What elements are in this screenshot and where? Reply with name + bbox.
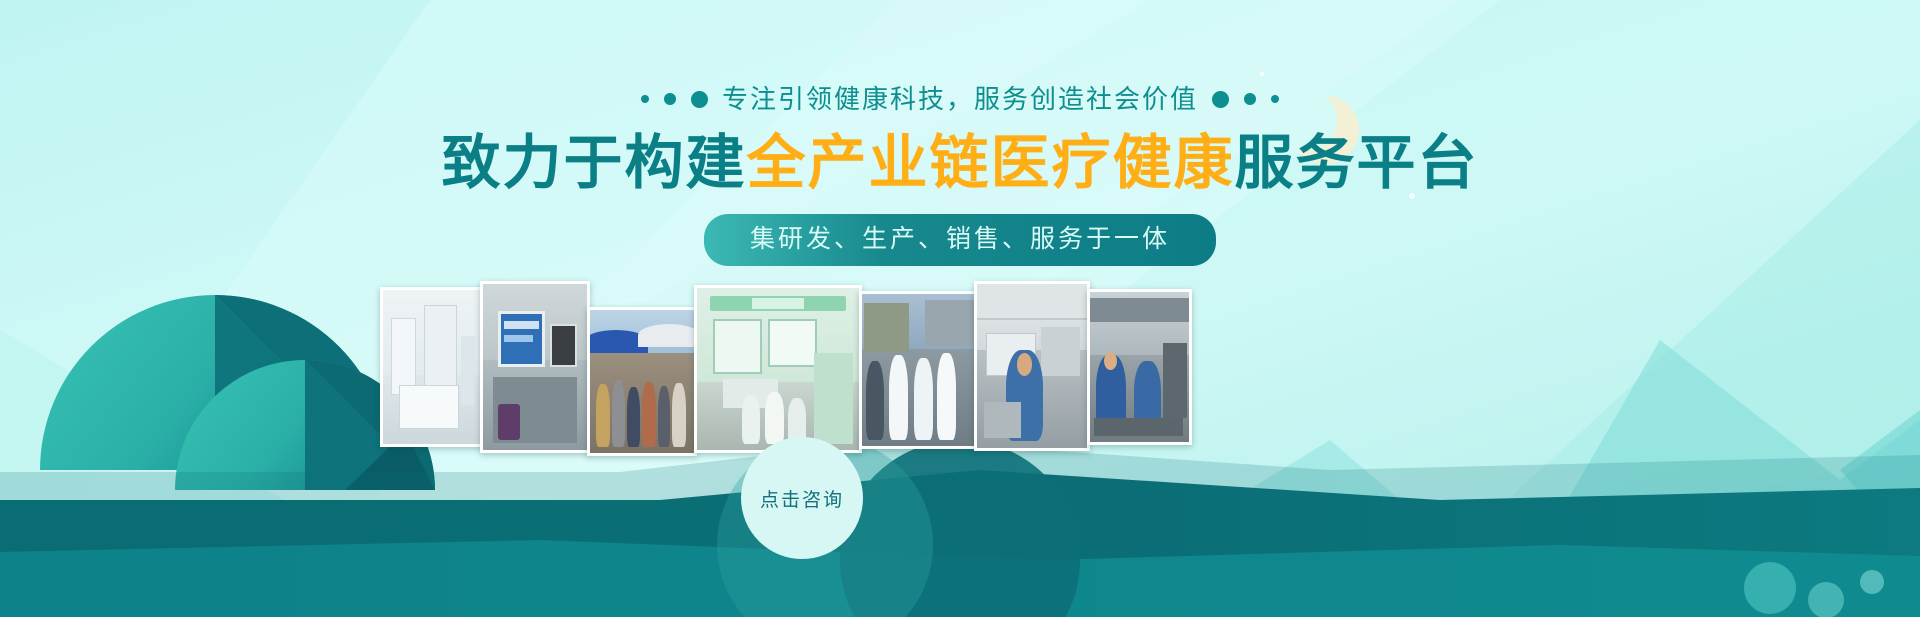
subtitle-row: 专注引领健康科技，服务创造社会价值 bbox=[0, 82, 1920, 116]
banner-text-block: 专注引领健康科技，服务创造社会价值 致力于构建全产业链医疗健康服务平台 集研发、… bbox=[0, 0, 1920, 266]
small-dot-icon bbox=[641, 95, 649, 103]
consult-button-label: 点击咨询 bbox=[760, 485, 844, 512]
photo-medical-staff-outdoor-checkup bbox=[859, 291, 977, 449]
consult-button[interactable]: 点击咨询 bbox=[741, 437, 863, 559]
headline-part-1: 致力于构建 bbox=[441, 130, 746, 196]
banner-subtitle: 专注引领健康科技，服务创造社会价值 bbox=[722, 82, 1198, 116]
decorative-dots-left bbox=[641, 91, 708, 108]
photo-technician-operating-equipment bbox=[1087, 289, 1192, 445]
tagline-pill: 集研发、生产、销售、服务于一体 bbox=[704, 214, 1216, 266]
photo-mobile-medical-vehicle-interior bbox=[974, 281, 1090, 451]
large-dot-icon bbox=[1212, 91, 1229, 108]
photo-health-kiosk-consultation-room bbox=[694, 285, 862, 453]
photo-strip bbox=[380, 281, 1192, 456]
small-dot-icon bbox=[1271, 95, 1279, 103]
tagline-row: 集研发、生产、销售、服务于一体 bbox=[0, 214, 1920, 266]
decorative-dots-right bbox=[1212, 91, 1279, 108]
headline-part-3: 服务平台 bbox=[1235, 130, 1479, 196]
banner-headline: 致力于构建全产业链医疗健康服务平台 bbox=[0, 128, 1920, 198]
medium-dot-icon bbox=[1244, 93, 1256, 105]
photo-medical-laboratory-equipment bbox=[380, 287, 484, 447]
photo-health-screening-monitor-station bbox=[480, 281, 590, 453]
photo-outdoor-community-health-clinic bbox=[587, 307, 697, 456]
medium-dot-icon bbox=[664, 93, 676, 105]
headline-part-2-highlight: 全产业链医疗健康 bbox=[746, 130, 1234, 196]
health-platform-banner: 专注引领健康科技，服务创造社会价值 致力于构建全产业链医疗健康服务平台 集研发、… bbox=[0, 0, 1920, 617]
large-dot-icon bbox=[691, 91, 708, 108]
